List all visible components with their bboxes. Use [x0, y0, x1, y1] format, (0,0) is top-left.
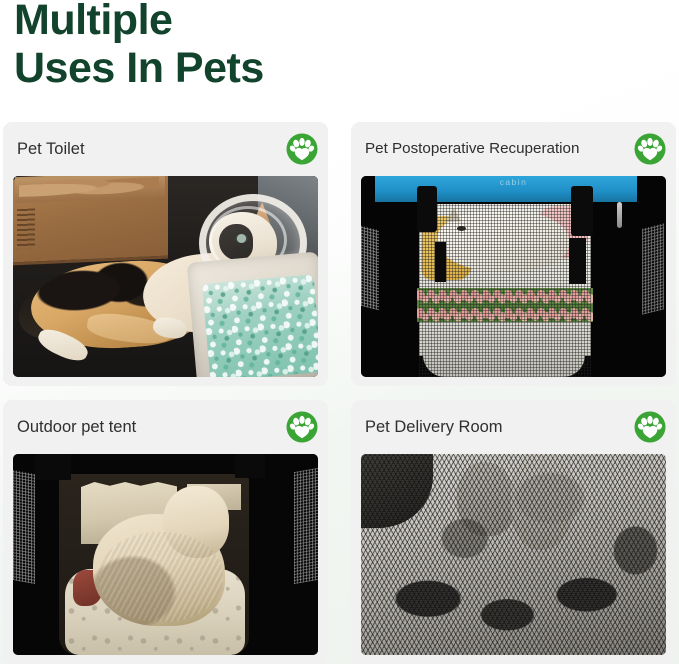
- card-title: Outdoor pet tent: [17, 417, 136, 437]
- card-photo-pet-delivery-room: [361, 454, 666, 655]
- use-case-card-pet-toilet: Pet Toilet: [3, 122, 328, 386]
- paw-icon: [634, 133, 666, 165]
- card-title: Pet Toilet: [17, 139, 85, 159]
- card-header: Outdoor pet tent: [3, 400, 328, 453]
- use-case-card-pet-postoperative-recuperation: Pet Postoperative Recuperation: [351, 122, 676, 386]
- infographic-page: Multiple Uses In Pets Pet Toilet: [0, 0, 679, 664]
- page-title-line-1: Multiple: [14, 0, 414, 44]
- card-title: Pet Delivery Room: [365, 417, 503, 437]
- use-case-card-pet-delivery-room: Pet Delivery Room: [351, 400, 676, 664]
- use-case-card-outdoor-pet-tent: Outdoor pet tent: [3, 400, 328, 664]
- paw-icon: [634, 411, 666, 443]
- page-title: Multiple Uses In Pets: [14, 0, 414, 92]
- card-header: Pet Toilet: [3, 122, 328, 175]
- paw-icon: [286, 411, 318, 443]
- card-photo-pet-postoperative-recuperation: cabin: [361, 176, 666, 377]
- card-header: Pet Delivery Room: [351, 400, 676, 453]
- card-header: Pet Postoperative Recuperation: [351, 122, 676, 175]
- carrier-brand-text: cabin: [361, 177, 666, 187]
- use-case-grid: Pet Toilet: [3, 122, 676, 664]
- card-photo-pet-toilet: [13, 176, 318, 377]
- card-title: Pet Postoperative Recuperation: [365, 139, 579, 159]
- card-photo-outdoor-pet-tent: [13, 454, 318, 655]
- paw-icon: [286, 133, 318, 165]
- page-title-line-2: Uses In Pets: [14, 44, 414, 92]
